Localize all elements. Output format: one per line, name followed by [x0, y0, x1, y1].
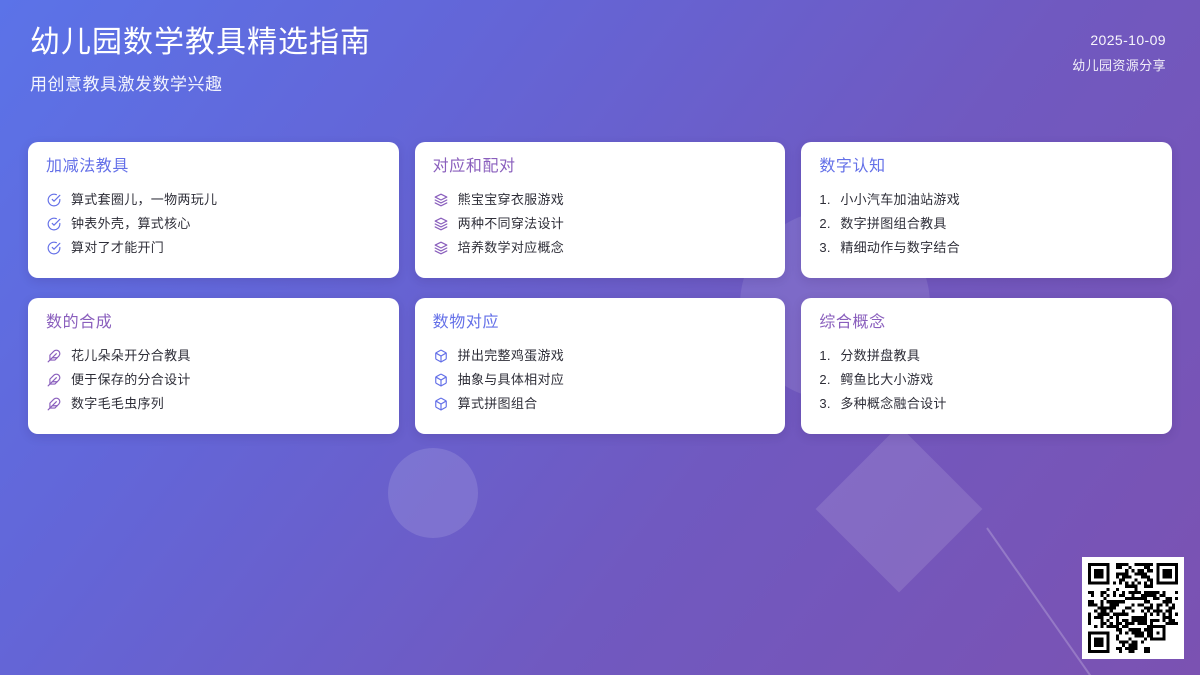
list-item: 1.小小汽车加油站游戏 — [819, 188, 1154, 212]
list-item: 算式套圈儿，一物两玩儿 — [46, 188, 381, 212]
list-item-number: 3. — [819, 392, 836, 416]
list-item: 抽象与具体相对应 — [433, 368, 768, 392]
list-item-label: 便于保存的分合设计 — [71, 368, 381, 392]
list-item: 算对了才能开门 — [46, 236, 381, 260]
list-item: 1.分数拼盘教具 — [819, 344, 1154, 368]
content-card: 对应和配对熊宝宝穿衣服游戏两种不同穿法设计培养数学对应概念 — [415, 142, 786, 278]
card-list: 算式套圈儿，一物两玩儿钟表外壳，算式核心算对了才能开门 — [46, 188, 381, 260]
card-title: 数的合成 — [46, 314, 381, 332]
list-item-number: 1. — [819, 188, 836, 212]
card-title: 对应和配对 — [433, 158, 768, 176]
list-item-number: 2. — [819, 212, 836, 236]
list-item: 拼出完整鸡蛋游戏 — [433, 344, 768, 368]
list-item: 钟表外壳，算式核心 — [46, 212, 381, 236]
list-item: 3.多种概念融合设计 — [819, 392, 1154, 416]
card-list: 花儿朵朵开分合教具便于保存的分合设计数字毛毛虫序列 — [46, 344, 381, 416]
header-left-group: 幼儿园数学教具精选指南 用创意教具激发数学兴趣 — [30, 24, 371, 95]
card-title: 数物对应 — [433, 314, 768, 332]
list-item-number: 3. — [819, 236, 836, 260]
card-list: 拼出完整鸡蛋游戏抽象与具体相对应算式拼图组合 — [433, 344, 768, 416]
content-card: 综合概念1.分数拼盘教具2.鳄鱼比大小游戏3.多种概念融合设计 — [801, 298, 1172, 434]
page-title: 幼儿园数学教具精选指南 — [30, 24, 371, 62]
box-icon — [433, 368, 449, 392]
box-icon — [433, 344, 449, 368]
header-right-group: 2025-10-09 幼儿园资源分享 — [1072, 24, 1166, 74]
list-item: 2.数字拼图组合教具 — [819, 212, 1154, 236]
list-item: 培养数学对应概念 — [433, 236, 768, 260]
list-item-number: 1. — [819, 344, 836, 368]
layers-icon — [433, 236, 449, 260]
list-item-label: 拼出完整鸡蛋游戏 — [458, 344, 768, 368]
list-item-label: 算式套圈儿，一物两玩儿 — [71, 188, 381, 212]
slide-header: 幼儿园数学教具精选指南 用创意教具激发数学兴趣 2025-10-09 幼儿园资源… — [0, 0, 1200, 120]
check-circle-icon — [46, 212, 62, 236]
qr-code[interactable] — [1082, 557, 1184, 659]
list-item: 算式拼图组合 — [433, 392, 768, 416]
feather-icon — [46, 392, 62, 416]
list-item-label: 分数拼盘教具 — [840, 344, 1154, 368]
card-list: 熊宝宝穿衣服游戏两种不同穿法设计培养数学对应概念 — [433, 188, 768, 260]
organization-label: 幼儿园资源分享 — [1072, 55, 1166, 74]
feather-icon — [46, 344, 62, 368]
list-item-label: 钟表外壳，算式核心 — [71, 212, 381, 236]
list-item-label: 两种不同穿法设计 — [458, 212, 768, 236]
list-item-label: 抽象与具体相对应 — [458, 368, 768, 392]
decorative-circle-small — [388, 448, 478, 538]
layers-icon — [433, 212, 449, 236]
card-title: 综合概念 — [819, 314, 1154, 332]
card-list: 1.小小汽车加油站游戏2.数字拼图组合教具3.精细动作与数字结合 — [819, 188, 1154, 260]
check-circle-icon — [46, 236, 62, 260]
list-item-label: 熊宝宝穿衣服游戏 — [458, 188, 768, 212]
list-item-label: 培养数学对应概念 — [458, 236, 768, 260]
qr-code-image — [1088, 563, 1178, 653]
layers-icon — [433, 188, 449, 212]
content-card: 数字认知1.小小汽车加油站游戏2.数字拼图组合教具3.精细动作与数字结合 — [801, 142, 1172, 278]
decorative-diagonal-line — [986, 527, 1091, 675]
check-circle-icon — [46, 188, 62, 212]
decorative-diamond — [816, 426, 983, 593]
content-card: 数的合成花儿朵朵开分合教具便于保存的分合设计数字毛毛虫序列 — [28, 298, 399, 434]
list-item-label: 算式拼图组合 — [458, 392, 768, 416]
feather-icon — [46, 368, 62, 392]
list-item: 2.鳄鱼比大小游戏 — [819, 368, 1154, 392]
list-item-label: 数字拼图组合教具 — [840, 212, 1154, 236]
list-item: 熊宝宝穿衣服游戏 — [433, 188, 768, 212]
list-item: 花儿朵朵开分合教具 — [46, 344, 381, 368]
list-item-label: 精细动作与数字结合 — [840, 236, 1154, 260]
card-grid: 加减法教具算式套圈儿，一物两玩儿钟表外壳，算式核心算对了才能开门对应和配对熊宝宝… — [28, 142, 1172, 434]
list-item-label: 鳄鱼比大小游戏 — [840, 368, 1154, 392]
box-icon — [433, 392, 449, 416]
list-item-label: 小小汽车加油站游戏 — [840, 188, 1154, 212]
list-item-label: 数字毛毛虫序列 — [71, 392, 381, 416]
card-list: 1.分数拼盘教具2.鳄鱼比大小游戏3.多种概念融合设计 — [819, 344, 1154, 416]
list-item-label: 花儿朵朵开分合教具 — [71, 344, 381, 368]
content-card: 加减法教具算式套圈儿，一物两玩儿钟表外壳，算式核心算对了才能开门 — [28, 142, 399, 278]
date-label: 2025-10-09 — [1090, 32, 1166, 48]
list-item-label: 算对了才能开门 — [71, 236, 381, 260]
list-item: 两种不同穿法设计 — [433, 212, 768, 236]
list-item-label: 多种概念融合设计 — [840, 392, 1154, 416]
slide-root: 幼儿园数学教具精选指南 用创意教具激发数学兴趣 2025-10-09 幼儿园资源… — [0, 0, 1200, 675]
card-title: 加减法教具 — [46, 158, 381, 176]
list-item: 便于保存的分合设计 — [46, 368, 381, 392]
page-subtitle: 用创意教具激发数学兴趣 — [30, 70, 371, 95]
list-item-number: 2. — [819, 368, 836, 392]
list-item: 数字毛毛虫序列 — [46, 392, 381, 416]
list-item: 3.精细动作与数字结合 — [819, 236, 1154, 260]
content-card: 数物对应拼出完整鸡蛋游戏抽象与具体相对应算式拼图组合 — [415, 298, 786, 434]
card-title: 数字认知 — [819, 158, 1154, 176]
